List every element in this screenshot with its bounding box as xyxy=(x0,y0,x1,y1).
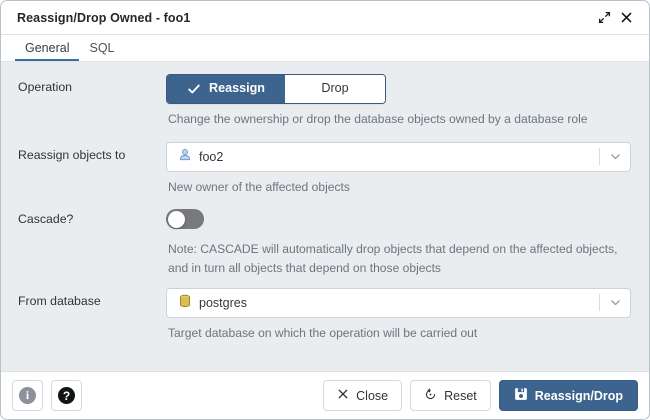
submit-reassign-drop-button[interactable]: Reassign/Drop xyxy=(499,380,638,411)
operation-option-drop[interactable]: Drop xyxy=(285,75,385,103)
reassign-objects-to-select[interactable]: foo2 xyxy=(166,142,631,172)
close-button-label: Close xyxy=(356,389,388,403)
reassign-objects-to-label: Reassign objects to xyxy=(11,142,166,164)
tab-sql[interactable]: SQL xyxy=(79,42,124,62)
from-database-help-text: Target database on which the operation w… xyxy=(166,318,631,343)
close-button[interactable]: Close xyxy=(323,380,402,411)
dialog-title: Reassign/Drop Owned - foo1 xyxy=(17,11,593,25)
field-row-cascade: Cascade? Note: CASCADE will automaticall… xyxy=(11,206,639,277)
reassign-objects-to-help-text: New owner of the affected objects xyxy=(166,172,631,197)
info-icon: i xyxy=(19,387,36,404)
close-x-icon xyxy=(337,388,349,403)
operation-help-text: Change the ownership or drop the databas… xyxy=(166,104,631,129)
operation-toggle-group: Reassign Drop xyxy=(166,74,386,104)
reassign-objects-to-field: foo2 New owner of the affected objects xyxy=(166,142,639,197)
dialog-footer: i ? Close Reset xyxy=(1,371,649,419)
operation-field: Reassign Drop Change the ownership or dr… xyxy=(166,74,639,129)
from-database-select[interactable]: postgres xyxy=(166,288,631,318)
help-button[interactable]: ? xyxy=(51,380,82,411)
chevron-down-icon[interactable] xyxy=(600,296,630,309)
expand-diagonal-icon[interactable] xyxy=(593,7,615,29)
from-database-value: postgres xyxy=(199,296,247,310)
from-database-value-wrap: postgres xyxy=(178,294,599,311)
submit-button-label: Reassign/Drop xyxy=(535,389,623,403)
from-database-field: postgres Target database on which the op… xyxy=(166,288,639,343)
dialog-tabs: General SQL xyxy=(1,35,649,62)
reset-button-label: Reset xyxy=(444,389,477,403)
close-icon[interactable] xyxy=(615,7,637,29)
operation-option-reassign[interactable]: Reassign xyxy=(167,75,285,103)
operation-option-drop-label: Drop xyxy=(321,82,348,96)
database-icon xyxy=(178,294,192,311)
cascade-toggle-knob xyxy=(168,211,185,228)
tab-general[interactable]: General xyxy=(15,42,79,62)
info-button[interactable]: i xyxy=(12,380,43,411)
chevron-down-icon[interactable] xyxy=(600,150,630,163)
reset-button[interactable]: Reset xyxy=(410,380,491,411)
dialog-body: Operation Reassign Drop Ch xyxy=(1,62,649,371)
check-icon xyxy=(187,82,201,96)
field-row-operation: Operation Reassign Drop Ch xyxy=(11,74,639,129)
cascade-help-text: Note: CASCADE will automatically drop ob… xyxy=(166,234,631,277)
field-row-reassign-objects-to: Reassign objects to foo2 xyxy=(11,142,639,197)
reassign-objects-to-value-wrap: foo2 xyxy=(178,148,599,165)
save-floppy-icon xyxy=(514,387,528,404)
role-user-icon xyxy=(178,148,192,165)
operation-label: Operation xyxy=(11,74,166,96)
cascade-toggle[interactable] xyxy=(166,209,204,229)
field-row-from-database: From database postgres xyxy=(11,288,639,343)
question-mark-icon: ? xyxy=(58,387,75,404)
reassign-drop-owned-dialog: Reassign/Drop Owned - foo1 General SQL O… xyxy=(0,0,650,420)
from-database-label: From database xyxy=(11,288,166,310)
reset-circular-arrow-icon xyxy=(424,388,437,404)
cascade-label: Cascade? xyxy=(11,206,166,228)
reassign-objects-to-value: foo2 xyxy=(199,150,223,164)
cascade-field: Note: CASCADE will automatically drop ob… xyxy=(166,206,639,277)
dialog-titlebar: Reassign/Drop Owned - foo1 xyxy=(1,1,649,35)
operation-option-reassign-label: Reassign xyxy=(209,82,265,96)
